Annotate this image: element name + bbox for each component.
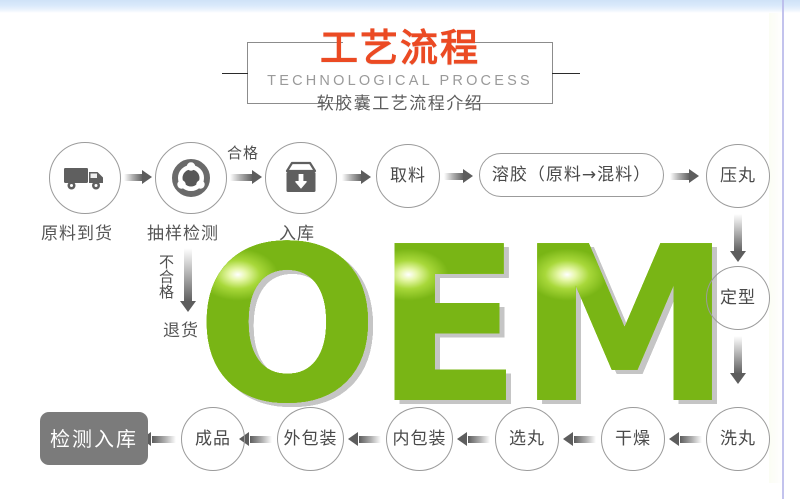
oem-watermark: O E M [196, 238, 664, 418]
arrow-drying-to-select [563, 432, 597, 447]
arrow-shaping-to-wash [730, 336, 746, 384]
title-subtitle: TECHNOLOGICAL PROCESS [0, 71, 800, 91]
caption-sampling-inspection: 抽样检测 [147, 219, 219, 244]
arrow-press-to-shaping [730, 214, 746, 262]
node-inner-packaging-label: 内包装 [393, 431, 447, 448]
node-select-pellet-label: 选丸 [509, 431, 545, 448]
caption-material-arrival: 原料到货 [41, 219, 113, 244]
node-final-inspection-storage[interactable]: 检测入库 [40, 412, 148, 465]
arrow-unqualified-to-return [180, 248, 196, 312]
node-drying-label: 干燥 [615, 431, 651, 448]
node-take-material[interactable]: 取料 [376, 144, 440, 208]
caption-warehouse-in: 入库 [279, 219, 315, 244]
arrow-label-qualified: 合格 [227, 142, 259, 163]
node-reject-return: 退货 [163, 316, 199, 341]
node-warehouse-in[interactable] [265, 142, 337, 214]
node-material-arrival[interactable] [49, 142, 121, 214]
node-shaping-label: 定型 [720, 290, 756, 307]
page-title: 工艺流程 [0, 26, 800, 70]
title-block: 工艺流程 TECHNOLOGICAL PROCESS 软胶囊工艺流程介绍 [0, 26, 800, 116]
node-inner-packaging[interactable]: 内包装 [386, 407, 453, 471]
node-final-inspection-storage-label: 检测入库 [50, 429, 138, 449]
node-take-material-label: 取料 [390, 168, 426, 185]
node-sampling-inspection[interactable] [155, 142, 227, 214]
arrow-arrival-to-sampling [124, 170, 152, 185]
watermark-letter-e: E [375, 238, 518, 414]
watermark-letter-m: M [518, 238, 728, 414]
arrow-inner-to-outer-pack [348, 432, 382, 447]
flowchart-canvas: 工艺流程 TECHNOLOGICAL PROCESS 软胶囊工艺流程介绍 O E… [0, 0, 800, 499]
arrow-gel-to-press [670, 169, 702, 184]
arrow-wash-to-drying [669, 432, 703, 447]
title-description: 软胶囊工艺流程介绍 [0, 92, 800, 116]
truck-icon [63, 164, 107, 192]
box-down-arrow-icon [281, 160, 321, 196]
node-gel-melting-label: 溶胶（原料→混料） [492, 167, 651, 184]
top-blue-band [0, 0, 800, 13]
node-wash-pellet-label: 洗丸 [720, 431, 756, 448]
watermark-letter-o: O [196, 238, 375, 414]
node-wash-pellet[interactable]: 洗丸 [706, 407, 770, 471]
arrow-sampling-to-warehouse [230, 170, 264, 185]
node-finished-product-label: 成品 [195, 431, 231, 448]
node-gel-melting[interactable]: 溶胶（原料→混料） [479, 153, 664, 197]
arrow-take-material-to-gel [444, 169, 476, 184]
sampling-icon [171, 158, 211, 198]
node-shaping[interactable]: 定型 [706, 266, 770, 330]
node-outer-packaging[interactable]: 外包装 [277, 407, 344, 471]
arrow-label-unqualified: 不合格 [156, 254, 177, 318]
node-press-pellet[interactable]: 压丸 [706, 144, 770, 208]
node-finished-product[interactable]: 成品 [181, 407, 245, 471]
node-drying[interactable]: 干燥 [601, 407, 665, 471]
arrow-select-to-inner-pack [457, 432, 491, 447]
node-select-pellet[interactable]: 选丸 [495, 407, 559, 471]
node-outer-packaging-label: 外包装 [284, 431, 338, 448]
arrow-warehouse-to-take-material [342, 170, 374, 185]
node-press-pellet-label: 压丸 [720, 168, 756, 185]
